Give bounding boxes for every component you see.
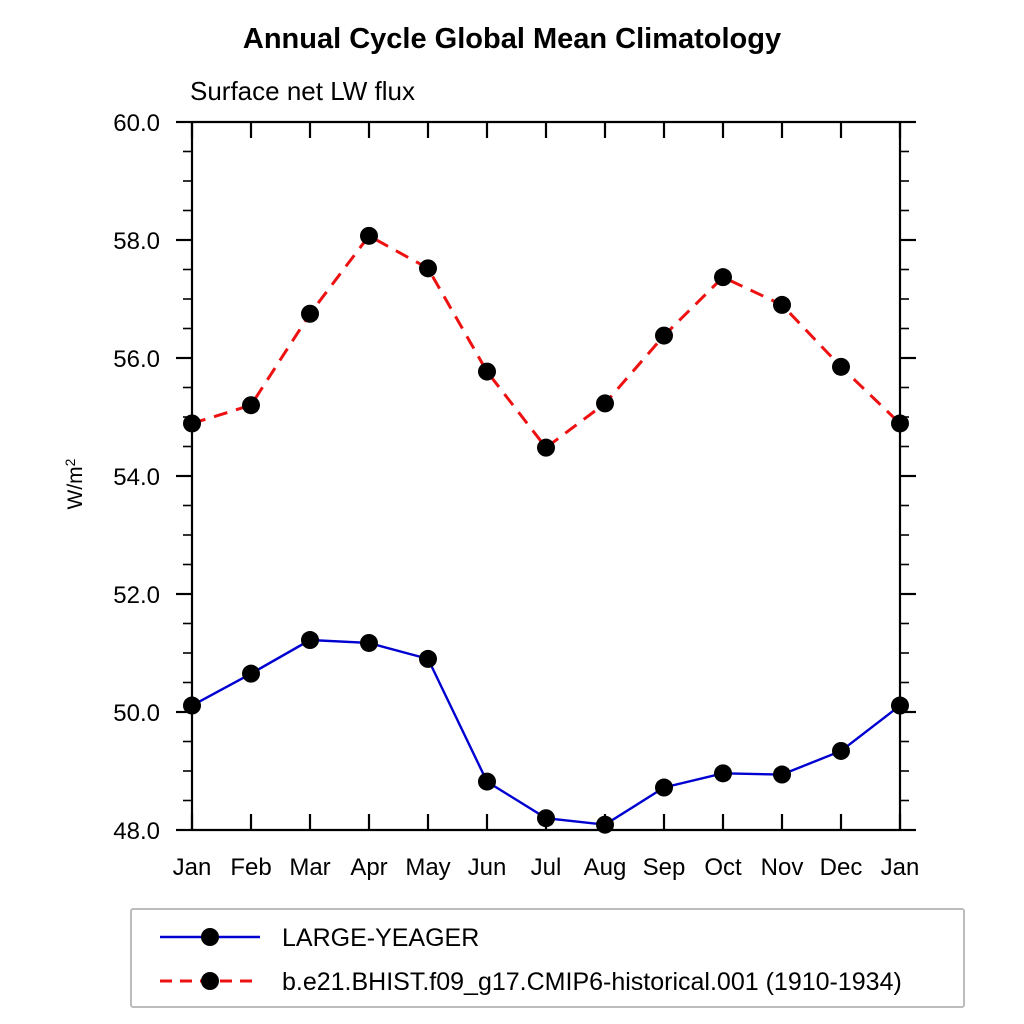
data-point-marker — [596, 816, 614, 834]
data-point-marker — [596, 394, 614, 412]
x-tick-label: Aug — [584, 854, 627, 881]
data-point-marker — [832, 358, 850, 376]
y-axis-ticks — [176, 122, 916, 830]
series-line-1 — [192, 640, 900, 825]
data-point-marker — [714, 268, 732, 286]
y-tick-label: 60.0 — [113, 110, 160, 137]
data-point-marker — [655, 327, 673, 345]
chart-title: Annual Cycle Global Mean Climatology — [243, 23, 781, 55]
chart-subtitle: Surface net LW flux — [190, 76, 415, 106]
x-tick-label: Dec — [820, 854, 863, 881]
data-point-marker — [655, 779, 673, 797]
data-point-marker — [242, 396, 260, 414]
y-tick-label: 56.0 — [113, 346, 160, 373]
x-tick-label: Feb — [230, 854, 271, 881]
legend-marker-1 — [201, 928, 219, 946]
x-tick-label: Jun — [468, 854, 507, 881]
data-point-marker — [360, 634, 378, 652]
data-point-marker — [360, 227, 378, 245]
legend-marker-2 — [201, 972, 219, 990]
data-point-marker — [773, 296, 791, 314]
chart-page: Annual Cycle Global Mean Climatology Sur… — [0, 0, 1024, 1024]
data-point-marker — [183, 697, 201, 715]
x-tick-label: Jul — [531, 854, 562, 881]
x-tick-label: May — [405, 854, 450, 881]
y-tick-label: 50.0 — [113, 700, 160, 727]
x-axis-ticks — [192, 122, 900, 830]
legend-label-2: b.e21.BHIST.f09_g17.CMIP6-historical.001… — [282, 968, 902, 996]
y-tick-label: 52.0 — [113, 582, 160, 609]
y-axis-tick-labels: 48.050.052.054.056.058.060.0 — [113, 110, 160, 845]
x-tick-label: Mar — [289, 854, 330, 881]
data-point-marker — [773, 766, 791, 784]
y-axis-title: W/m2 — [62, 458, 87, 509]
chart-legend: LARGE-YEAGERb.e21.BHIST.f09_g17.CMIP6-hi… — [131, 909, 964, 1007]
series-2 — [183, 227, 909, 457]
x-tick-label: Apr — [350, 854, 387, 881]
data-point-marker — [419, 259, 437, 277]
data-point-marker — [478, 773, 496, 791]
legend-label-1: LARGE-YEAGER — [282, 924, 479, 952]
x-tick-label: Sep — [643, 854, 686, 881]
y-tick-label: 48.0 — [113, 818, 160, 845]
data-point-marker — [183, 414, 201, 432]
data-point-marker — [301, 305, 319, 323]
x-axis-tick-labels: JanFebMarAprMayJunJulAugSepOctNovDecJan — [173, 854, 920, 881]
series-line-2 — [192, 236, 900, 448]
data-point-marker — [832, 742, 850, 760]
data-point-marker — [478, 363, 496, 381]
data-point-marker — [714, 764, 732, 782]
data-point-marker — [537, 439, 555, 457]
data-point-marker — [419, 650, 437, 668]
y-axis-title-text: W/m2 — [62, 458, 87, 509]
annual-cycle-line-chart: Annual Cycle Global Mean Climatology Sur… — [0, 0, 1024, 1024]
data-point-marker — [891, 697, 909, 715]
y-tick-label: 58.0 — [113, 228, 160, 255]
x-tick-label: Jan — [173, 854, 212, 881]
data-point-marker — [891, 414, 909, 432]
data-point-marker — [537, 809, 555, 827]
data-series-layer — [183, 227, 909, 834]
data-point-marker — [301, 631, 319, 649]
data-point-marker — [242, 665, 260, 683]
y-tick-label: 54.0 — [113, 464, 160, 491]
series-1 — [183, 631, 909, 834]
x-tick-label: Jan — [881, 854, 920, 881]
plot-frame — [192, 122, 900, 830]
x-tick-label: Nov — [761, 854, 804, 881]
x-tick-label: Oct — [704, 854, 742, 881]
